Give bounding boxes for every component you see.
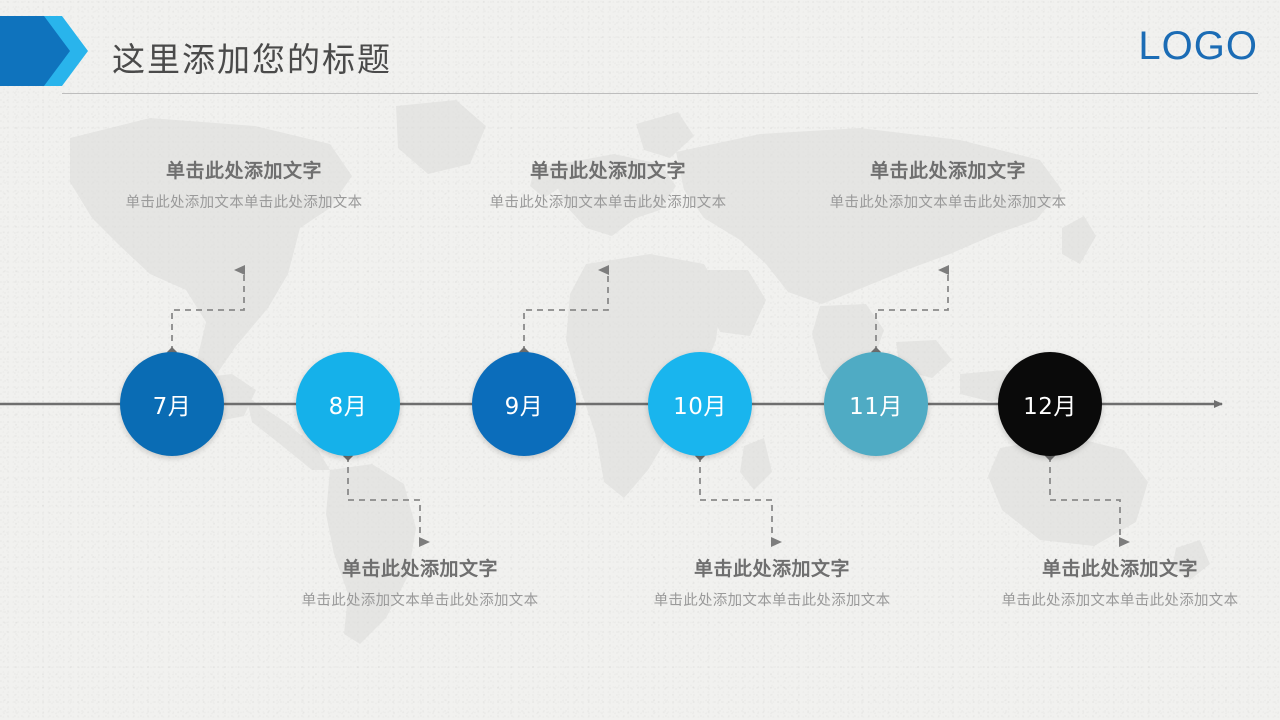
text-block-body: 单击此处添加文本单击此处添加文本 — [818, 192, 1078, 215]
header-chevron-decoration — [0, 16, 90, 86]
timeline-node-label: 9月 — [505, 387, 544, 421]
timeline-node-12月[interactable]: 12月 — [998, 352, 1102, 456]
text-block: 单击此处添加文字单击此处添加文本单击此处添加文本 — [478, 160, 738, 215]
timeline-node-label: 12月 — [1023, 387, 1077, 421]
timeline-node-11月[interactable]: 11月 — [824, 352, 928, 456]
text-block-title: 单击此处添加文字 — [478, 160, 738, 184]
text-block: 单击此处添加文字单击此处添加文本单击此处添加文本 — [990, 558, 1250, 613]
timeline-node-label: 10月 — [673, 387, 727, 421]
text-block-title: 单击此处添加文字 — [818, 160, 1078, 184]
text-block: 单击此处添加文字单击此处添加文本单击此处添加文本 — [818, 160, 1078, 215]
timeline-node-label: 8月 — [329, 387, 368, 421]
text-block-body: 单击此处添加文本单击此处添加文本 — [990, 590, 1250, 613]
text-block-body: 单击此处添加文本单击此处添加文本 — [290, 590, 550, 613]
timeline-node-7月[interactable]: 7月 — [120, 352, 224, 456]
timeline-node-label: 11月 — [849, 387, 903, 421]
text-block: 单击此处添加文字单击此处添加文本单击此处添加文本 — [290, 558, 550, 613]
logo: LOGO — [1138, 24, 1258, 69]
slide-canvas: 这里添加您的标题 LOGO 7月8月9月10月11月12月 单击此处添加文字单击… — [0, 0, 1280, 720]
timeline-node-10月[interactable]: 10月 — [648, 352, 752, 456]
header-divider — [62, 93, 1258, 94]
text-block-title: 单击此处添加文字 — [114, 160, 374, 184]
slide-header: 这里添加您的标题 LOGO — [0, 0, 1280, 100]
timeline-node-9月[interactable]: 9月 — [472, 352, 576, 456]
text-block-body: 单击此处添加文本单击此处添加文本 — [114, 192, 374, 215]
text-block-title: 单击此处添加文字 — [290, 558, 550, 582]
text-block-body: 单击此处添加文本单击此处添加文本 — [642, 590, 902, 613]
text-block-body: 单击此处添加文本单击此处添加文本 — [478, 192, 738, 215]
text-block-title: 单击此处添加文字 — [990, 558, 1250, 582]
page-title: 这里添加您的标题 — [112, 33, 392, 81]
timeline-node-8月[interactable]: 8月 — [296, 352, 400, 456]
text-block: 单击此处添加文字单击此处添加文本单击此处添加文本 — [114, 160, 374, 215]
text-block: 单击此处添加文字单击此处添加文本单击此处添加文本 — [642, 558, 902, 613]
text-block-title: 单击此处添加文字 — [642, 558, 902, 582]
timeline-node-label: 7月 — [153, 387, 192, 421]
